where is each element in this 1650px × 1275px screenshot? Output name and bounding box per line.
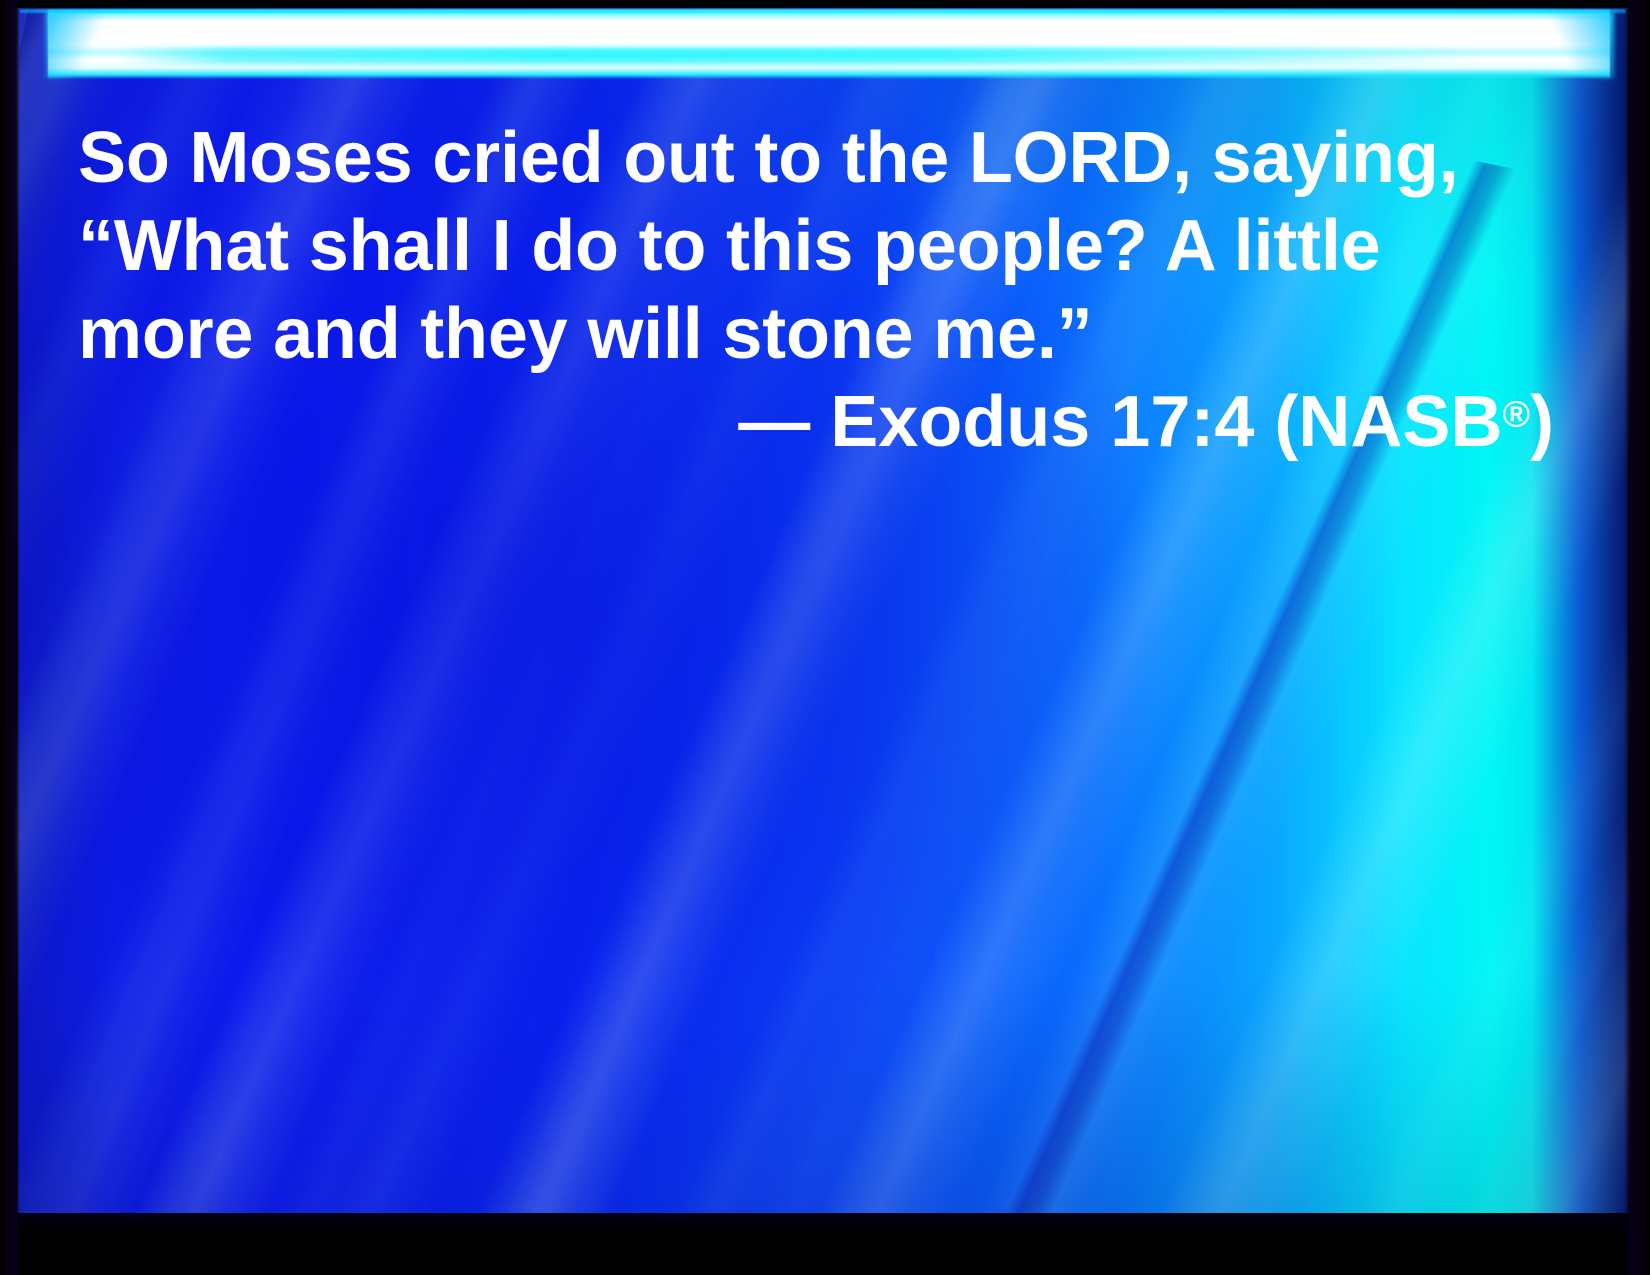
verse-line-3: more and they will stone me.” (78, 290, 1558, 378)
verse-line-1: So Moses cried out to the LORD, saying, (78, 114, 1558, 202)
attribution-reference: Exodus 17:4 (830, 382, 1254, 462)
attribution-close-paren: ) (1530, 382, 1554, 462)
attribution-spacer-1 (810, 382, 830, 462)
verse-text-block: So Moses cried out to the LORD, saying, … (78, 114, 1558, 466)
top-highlight-right-cap (1534, 12, 1614, 78)
verse-attribution: — Exodus 17:4 (NASB®) (78, 378, 1558, 466)
top-highlight-left-cap (46, 12, 116, 78)
scripture-slide: So Moses cried out to the LORD, saying, … (0, 0, 1650, 1275)
attribution-spacer-2 (1254, 382, 1274, 462)
attribution-translation: NASB (1298, 382, 1502, 462)
top-highlight-cyan-core (120, 48, 1480, 64)
verse-line-2: “What shall I do to this people? A littl… (78, 202, 1558, 290)
top-edge-violet-line (20, 5, 1626, 9)
attribution-open-paren: ( (1274, 382, 1298, 462)
registered-trademark-icon: ® (1502, 393, 1530, 435)
attribution-em-dash: — (738, 382, 810, 462)
top-highlight-bar (48, 9, 1610, 79)
